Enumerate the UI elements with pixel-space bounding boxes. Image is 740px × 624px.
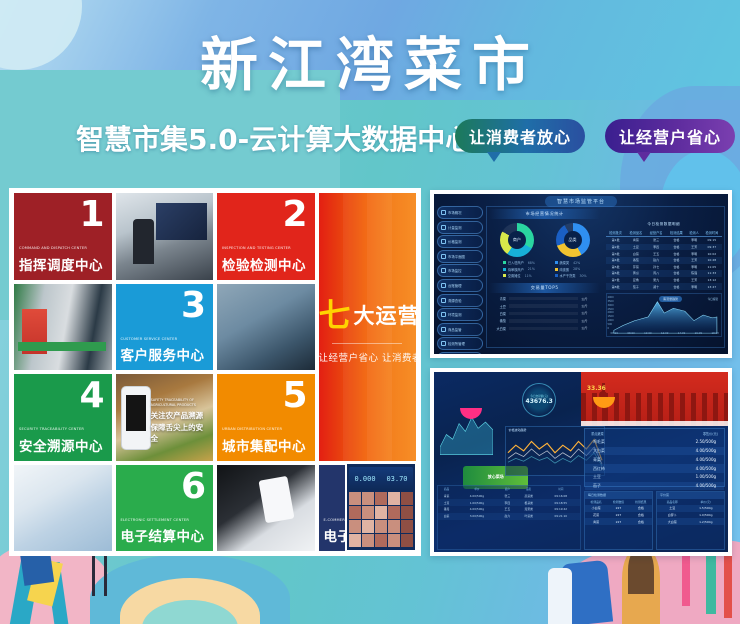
tile-photo-command-room (116, 193, 214, 280)
legend-item-1: 待审核商户21% (503, 267, 535, 272)
dashboard-top-body: 市场经营情况统计 商户 品类 已入驻商户68%待审核商户21%空置摊位11% 蔬… (486, 206, 725, 348)
hero-headline: 七大运营中心 (319, 290, 417, 336)
table-row: 第1批青菜张三合格李明09:15 (606, 237, 723, 244)
page-header: 新江湾菜市 智慧市集5.0-云计算大数据中心 让消费者放心 让经营户省心 (0, 0, 740, 186)
badge-merchant: 让经营户省心 (605, 119, 735, 153)
tile-label-cn: 客户服务中心 (121, 344, 210, 364)
legend-swatch (555, 268, 558, 271)
table-cell: 11:05 (702, 264, 722, 271)
price-item-name: 西红柿 (593, 466, 605, 472)
table-cell: 第1批 (606, 237, 626, 244)
price-panel-header: 重点蔬菜 零售价(元) (585, 429, 724, 438)
sidebar-item-label: 市场平面图 (448, 254, 465, 259)
tile-photo-payment (217, 465, 315, 552)
table-cell: 合格 (630, 512, 652, 519)
price-item-value: 2.50/500g (696, 439, 716, 445)
donut-legend-left: 已入驻商户68%待审核商户21%空置摊位11% (503, 260, 535, 278)
sidebar-item-9[interactable]: 检测所管理 (437, 337, 483, 350)
price-row-5: 茄子4.00/500g (585, 482, 724, 491)
table-cell: 芹菜 (626, 264, 646, 271)
bar-row-1: 土豆公斤 (494, 304, 595, 309)
photo-caption-en: SAFETY TRACEABILITY OF AGRICULTURAL PROD… (151, 398, 210, 408)
sidebar-item-label: 环境监测 (448, 312, 462, 317)
table-cell: 李明 (687, 283, 702, 290)
tile-center-2[interactable]: 2 INSPECTION AND TESTING CENTER 检验检测中心 (217, 193, 315, 280)
bar-unit: 公斤 (581, 326, 595, 330)
table-row: 花菜227合格 (585, 512, 652, 519)
tile-smart-scale-screen[interactable]: 0.000 03.70 (345, 462, 417, 552)
detection-table: 检测批次检测品名经营户名检测结果检测人检测时间 第1批青菜张三合格李明09:15… (606, 228, 723, 290)
area-chart-x-axis: 06:0008:0010:0012:0014:0016:0018:00 (611, 332, 720, 335)
donut-panel-title: 市场经营情况统计 (489, 209, 600, 219)
legend-item-1: 肉禽蛋28% (555, 267, 587, 272)
mini-table-a-title: 每日检测数据 (585, 492, 652, 499)
bar-track (509, 304, 578, 307)
tile-label-en: ELECTRONIC SETTLEMENT CENTER (121, 518, 210, 523)
column-header: 经营户名 (646, 228, 666, 237)
table-cell: 10:28 (702, 257, 722, 264)
table-cell: 王五 (646, 250, 666, 257)
price-item-value: 4.00/500g (696, 457, 716, 463)
table-cell: 叶菜类 (516, 513, 542, 520)
tile-photo-network (14, 465, 112, 552)
tile-label: URBAN DISTRIBUTION CENTER 城市集配中心 (222, 427, 311, 454)
table-row: 土豆1.00/500g李四根茎类09:18:55 (438, 499, 580, 506)
bar-track (509, 319, 578, 322)
price-rows: 鸡毛菜2.50/500g大白菜4.00/500g青菜4.00/500g西红柿4.… (585, 438, 724, 491)
table-cell: 青菜 (585, 518, 607, 525)
sidebar-item-label: 市场监控 (448, 268, 462, 273)
price-row-3: 西红柿4.00/500g (585, 464, 724, 473)
hero-divider (332, 343, 402, 344)
menu-icon (441, 283, 446, 288)
kpi-caption: 今日交易额(元) (530, 394, 548, 398)
table-row: 青菜227合格 (585, 518, 652, 525)
sidebar-item-6[interactable]: 溯源查验 (437, 294, 483, 307)
scale-readout: 0.000 03.70 (349, 467, 413, 489)
tile-center-5[interactable]: 5 URBAN DISTRIBUTION CENTER 城市集配中心 (217, 374, 315, 461)
table-cell: 李明 (687, 250, 702, 257)
tile-label: CUSTOMER SERVICE CENTER 客户服务中心 (121, 337, 210, 364)
decor-green-stripe (706, 556, 716, 614)
tile-number: 4 (79, 378, 104, 414)
menu-icon (441, 254, 446, 259)
affordable-vegetable-table: 平价菜 商品名称单价(元)土豆1.5/500g白萝卜1.0/500g大白菜1.2… (656, 491, 725, 550)
table-cell: 1.0/500g (687, 512, 724, 519)
table-cell: 09:19:42 (542, 506, 580, 513)
bar-track (509, 297, 578, 300)
x-tick: 12:00 (661, 332, 668, 335)
legend-item-0: 已入驻商户68% (503, 260, 535, 265)
sidebar-item-label: 市场概况 (448, 210, 462, 215)
table-cell: 第3批 (606, 250, 626, 257)
legend-value: 11% (525, 274, 532, 278)
bar-label: 大白菜 (494, 326, 506, 331)
dashboard-top-screen: 智慧市场监管平台 市场概况计量监测价格监测市场平面图市场监控台账管理溯源查验环境… (434, 194, 728, 354)
decor-red-stripe (724, 556, 732, 618)
table-cell: 合格 (666, 250, 686, 257)
column-header: 检测人 (687, 228, 702, 237)
detection-table-title: 今日检测数据明细 (606, 221, 723, 228)
legend-value: 30% (579, 274, 586, 278)
key-vegetable-price-panel: 重点蔬菜 零售价(元) 鸡毛菜2.50/500g大白菜4.00/500g青菜4.… (584, 428, 725, 487)
table-cell: 王五 (499, 506, 516, 513)
decor-white-shape (548, 568, 572, 624)
donut-chart-merchants: 商户 (500, 223, 534, 257)
table-cell: 合格 (666, 277, 686, 284)
dashboard-left-column: 市场经营情况统计 商户 品类 已入驻商户68%待审核商户21%空置摊位11% 蔬… (489, 209, 600, 345)
table-row: 第5批芹菜孙七合格李明11:05 (606, 264, 723, 271)
menu-icon (441, 341, 446, 346)
price-row-1: 大白菜4.00/500g (585, 447, 724, 456)
sidebar-item-label: 价格监测 (448, 239, 462, 244)
price-item-name: 鸡毛菜 (593, 439, 605, 445)
bar-label: 番茄 (494, 318, 506, 323)
tile-label-cn: 城市集配中心 (222, 435, 311, 455)
bar-unit: 公斤 (581, 311, 595, 315)
table-row: 第2批土豆李四合格王芳09:37 (606, 244, 723, 251)
tile-label-en: COMMAND AND DISPATCH CENTER (19, 246, 108, 251)
price-item-value: 1.00/500g (696, 474, 716, 480)
price-row-2: 青菜4.00/500g (585, 455, 724, 464)
bar-chart-top5: 青菜公斤土豆公斤白菜公斤番茄公斤大白菜公斤 (489, 293, 600, 333)
legend-value: 68% (528, 261, 535, 265)
table-row: 第6批黄瓜周八合格陈强11:33 (606, 270, 723, 277)
table-cell: 茄果类 (516, 506, 542, 513)
table-cell: 合格 (666, 270, 686, 277)
bar-label: 白菜 (494, 311, 506, 316)
phone-mockup (121, 386, 150, 450)
table-cell: 土豆 (438, 499, 455, 506)
x-tick: 08:00 (627, 332, 634, 335)
tile-center-6[interactable]: 6 ELECTRONIC SETTLEMENT CENTER 电子结算中心 (116, 465, 214, 552)
bar-row-0: 青菜公斤 (494, 296, 595, 301)
tile-photo-traceability: SAFETY TRACEABILITY OF AGRICULTURAL PROD… (116, 374, 214, 461)
transaction-table: 商品单价商户品名时间青菜4.00/500g张三蔬菜类09:16:08土豆1.00… (438, 486, 580, 519)
table-cell: 09:16:08 (542, 492, 580, 499)
price-row-0: 鸡毛菜2.50/500g (585, 438, 724, 447)
photo-caption-line2: 保障舌尖上的安全 (151, 423, 204, 443)
sidebar-item-1[interactable]: 计量监测 (437, 221, 483, 234)
decor-pink-stripe (682, 554, 690, 606)
table-cell: 大白菜 (657, 518, 688, 525)
table-cell: 郑十 (646, 283, 666, 290)
legend-swatch (555, 274, 558, 277)
price-item-name: 茄子 (593, 483, 601, 489)
detection-table-header-row: 检测批次检测品名经营户名检测结果检测人检测时间 (606, 228, 723, 237)
dashboard-right-column: 今日检测数据明细 检测批次检测品名经营户名检测结果检测人检测时间 第1批青菜张三… (606, 221, 723, 343)
mini-table-a: 检测品名检测数值检测结果小白菜227合格花菜227合格青菜227合格 (585, 499, 652, 525)
sidebar-item-label: 计量监测 (448, 225, 462, 230)
column-header: 检测时间 (702, 228, 722, 237)
hero-tagline: 让经营户省心 让消费者放心 (319, 350, 417, 364)
legend-item-2: 空置摊位11% (503, 273, 535, 278)
bar-label: 土豆 (494, 304, 506, 309)
photo-caption-line1: 关注农产品溯源 (151, 411, 204, 420)
scale-weight-value: 0.000 (354, 475, 375, 483)
table-cell: 张三 (499, 492, 516, 499)
table-cell: 赵六 (499, 513, 516, 520)
table-cell: 番茄 (438, 506, 455, 513)
sidebar-item-3[interactable]: 市场平面图 (437, 250, 483, 263)
table-row: 第8批茄子郑十合格李明13:47 (606, 283, 723, 290)
table-cell: 227 (607, 505, 629, 512)
column-header: 检测结果 (666, 228, 686, 237)
menu-icon (441, 210, 446, 215)
price-header-value: 零售价(元) (703, 431, 718, 436)
price-item-value: 4.00/500g (696, 483, 716, 489)
table-cell: 茄子 (626, 283, 646, 290)
tile-center-1[interactable]: 1 COMMAND AND DISPATCH CENTER 指挥调度中心 (14, 193, 112, 280)
table-row: 白萝卜1.0/500g (657, 512, 724, 519)
legend-label: 待审核商户 (508, 267, 524, 272)
hero-seven-centers: 七大运营中心 让经营户省心 让消费者放心 (319, 193, 417, 461)
tile-center-3[interactable]: 3 CUSTOMER SERVICE CENTER 客户服务中心 (116, 284, 214, 371)
table-cell: 第2批 (606, 244, 626, 251)
table-cell: 1.00/500g (455, 499, 499, 506)
table-cell: 10:02 (702, 250, 722, 257)
tile-label-en: URBAN DISTRIBUTION CENTER (222, 427, 311, 432)
menu-icon (441, 312, 446, 317)
table-cell: 张三 (646, 237, 666, 244)
bar-unit: 公斤 (581, 297, 595, 301)
tile-label-cn: 电子结算中心 (121, 525, 210, 545)
table-cell: 227 (607, 512, 629, 519)
dashboard-sidebar[interactable]: 市场概况计量监测价格监测市场平面图市场监控台账管理溯源查验环境监测商品监管检测所… (437, 206, 483, 350)
column-header: 检测品名 (626, 228, 646, 237)
table-cell: 第7批 (606, 277, 626, 284)
sidebar-item-8[interactable]: 商品监管 (437, 323, 483, 336)
table-row: 大白菜1.2/500g (657, 518, 724, 525)
bar-unit: 公斤 (581, 304, 595, 308)
legend-label: 肉禽蛋 (560, 267, 570, 272)
table-cell: 蔬菜类 (516, 492, 542, 499)
tile-label-cn: 检验检测中心 (222, 254, 311, 274)
table-row: 番茄4.00/500g王五茄果类09:19:42 (438, 506, 580, 513)
table-cell: 13:47 (702, 283, 722, 290)
table-cell: 13:12 (702, 277, 722, 284)
legend-item-2: 水产干货类30% (555, 273, 587, 278)
scale-price-value: 03.70 (386, 475, 407, 483)
tile-number: 5 (282, 378, 307, 414)
dashboard-bottom-market[interactable]: 今日交易额(元) 43676.3 33.36 放心菜场 价格波动趋势 重点蔬菜 … (430, 368, 732, 556)
bar-row-3: 番茄公斤 (494, 318, 595, 323)
table-cell: 3.00/500g (455, 513, 499, 520)
table-cell: 4.00/500g (455, 492, 499, 499)
table-cell: 09:21:10 (542, 513, 580, 520)
tile-label-en: SECURITY TRACEABILITY CENTER (19, 427, 108, 432)
tile-label: ELECTRONIC SETTLEMENT CENTER 电子结算中心 (121, 518, 210, 545)
price-header-name: 重点蔬菜 (591, 431, 604, 436)
tile-photo-market-aisle (14, 284, 112, 371)
legend-swatch (503, 261, 506, 264)
tile-label: COMMAND AND DISPATCH CENTER 指挥调度中心 (19, 246, 108, 273)
table-cell: 李明 (687, 264, 702, 271)
tile-label-cn: 安全溯源中心 (19, 435, 108, 455)
dashboard-top-monitoring[interactable]: 智慧市场监管平台 市场概况计量监测价格监测市场平面图市场监控台账管理溯源查验环境… (430, 190, 732, 358)
table-cell: 第8批 (606, 283, 626, 290)
tile-label: SECURITY TRACEABILITY CENTER 安全溯源中心 (19, 427, 108, 454)
table-cell: 合格 (666, 237, 686, 244)
bar-row-2: 白菜公斤 (494, 311, 595, 316)
tile-label-en: INSPECTION AND TESTING CENTER (222, 246, 311, 251)
tile-label-en: CUSTOMER SERVICE CENTER (121, 337, 210, 342)
bar-row-4: 大白菜公斤 (494, 326, 595, 331)
table-cell: 王芳 (687, 244, 702, 251)
legend-label: 水产干货类 (560, 273, 576, 278)
table-cell: 豆角 (626, 277, 646, 284)
legend-label: 已入驻商户 (508, 260, 524, 265)
bar-track (509, 327, 578, 330)
sidebar-item-0[interactable]: 市场概况 (437, 206, 483, 219)
sidebar-item-2[interactable]: 价格监测 (437, 235, 483, 248)
hero-label: 大运营中心 (354, 304, 416, 328)
table-cell: 番茄 (626, 257, 646, 264)
table-cell: 李四 (646, 244, 666, 251)
x-tick: 16:00 (695, 332, 702, 335)
table-row: 小白菜227合格 (585, 505, 652, 512)
sidebar-item-10[interactable]: 经营户管理 (437, 352, 483, 354)
kpi-secondary-value: 33.36 (587, 385, 606, 392)
detection-table-body: 第1批青菜张三合格李明09:15第2批土豆李四合格王芳09:37第3批白菜王五合… (606, 237, 723, 290)
donut-legends: 已入驻商户68%待审核商户21%空置摊位11% 蔬菜类42%肉禽蛋28%水产干货… (489, 259, 600, 281)
price-item-name: 大白菜 (593, 448, 605, 454)
mini-table-b: 商品名称单价(元)土豆1.5/500g白萝卜1.0/500g大白菜1.2/500… (657, 499, 724, 525)
table-cell: 李明 (687, 237, 702, 244)
table-cell: 11:33 (702, 270, 722, 277)
tile-number: 1 (79, 197, 104, 233)
table-cell: 周八 (646, 270, 666, 277)
table-cell: 第5批 (606, 264, 626, 271)
column-header: 检测批次 (606, 228, 626, 237)
table-cell: 1.5/500g (687, 505, 724, 512)
sidebar-item-label: 检测所管理 (448, 341, 465, 346)
x-tick: 10:00 (644, 332, 651, 335)
legend-label: 空置摊位 (508, 273, 521, 278)
table-cell: 白菜 (626, 250, 646, 257)
menu-icon (441, 298, 446, 303)
tile-number: 3 (181, 288, 206, 324)
tile-photo-mobile-iot (217, 284, 315, 371)
legend-value: 28% (573, 267, 580, 271)
page-title: 新江湾菜市 (0, 18, 740, 102)
menu-icon (441, 239, 446, 244)
area-chart-legend: 今日客流 (708, 297, 718, 301)
tile-label-cn: 指挥调度中心 (19, 254, 108, 274)
legend-value: 42% (573, 261, 580, 265)
legend-label: 蔬菜类 (560, 260, 570, 265)
x-tick: 18:00 (711, 332, 718, 335)
table-cell: 王芳 (687, 277, 702, 284)
mini-table-b-title: 平价菜 (657, 492, 724, 499)
price-item-name: 青菜 (593, 457, 601, 463)
table-cell: 合格 (666, 244, 686, 251)
dashboard-bottom-screen: 今日交易额(元) 43676.3 33.36 放心菜场 价格波动趋势 重点蔬菜 … (434, 372, 728, 552)
table-row: 青菜4.00/500g张三蔬菜类09:16:08 (438, 492, 580, 499)
table-cell: 227 (607, 518, 629, 525)
table-cell: 09:18:55 (542, 499, 580, 506)
table-cell: 青菜 (626, 237, 646, 244)
sidebar-item-label: 溯源查验 (448, 298, 462, 303)
table-cell: 李四 (499, 499, 516, 506)
decor-stick-1 (92, 550, 95, 596)
traffic-area-chart: 40003500300025002000150010005000 客流量趋势 今… (606, 293, 723, 337)
sidebar-item-5[interactable]: 台账管理 (437, 279, 483, 292)
donut-charts: 商户 品类 (489, 219, 600, 259)
table-cell: 赵六 (646, 257, 666, 264)
price-item-value: 4.00/500g (696, 466, 716, 472)
table-cell: 白菜 (438, 513, 455, 520)
table-cell: 09:37 (702, 244, 722, 251)
x-tick: 14:00 (678, 332, 685, 335)
table-cell: 根茎类 (516, 499, 542, 506)
decor-stick-2 (104, 550, 107, 596)
hero-number: 七 (319, 296, 352, 334)
bar-unit: 公斤 (581, 319, 595, 323)
table-cell: 合格 (666, 257, 686, 264)
bar-label: 青菜 (494, 296, 506, 301)
scale-product-grid (349, 492, 413, 546)
table-cell: 黄瓜 (626, 270, 646, 277)
daily-detection-table: 每日检测数据 检测品名检测数值检测结果小白菜227合格花菜227合格青菜227合… (584, 491, 653, 550)
table-cell: 土豆 (657, 505, 688, 512)
page-subtitle: 智慧市集5.0-云计算大数据中心 (76, 118, 473, 158)
table-cell: 1.2/500g (687, 518, 724, 525)
sidebar-item-4[interactable]: 市场监控 (437, 264, 483, 277)
table-cell: 孙七 (646, 264, 666, 271)
table-cell: 合格 (630, 505, 652, 512)
kpi-total-transaction: 今日交易额(元) 43676.3 (522, 383, 556, 417)
table-cell: 青菜 (438, 492, 455, 499)
table-cell: 合格 (666, 283, 686, 290)
table-cell: 花菜 (585, 512, 607, 519)
price-item-value: 4.00/500g (696, 448, 716, 454)
donut-legend-right: 蔬菜类42%肉禽蛋28%水产干货类30% (555, 260, 587, 278)
table-cell: 小白菜 (585, 505, 607, 512)
legend-value: 21% (528, 267, 535, 271)
legend-swatch (503, 268, 506, 271)
tile-number: 2 (282, 197, 307, 233)
price-row-4: 土豆1.00/500g (585, 473, 724, 482)
photo-caption: SAFETY TRACEABILITY OF AGRICULTURAL PROD… (151, 398, 210, 444)
table-cell: 王芳 (687, 257, 702, 264)
menu-icon (441, 268, 446, 273)
table-cell: 合格 (630, 518, 652, 525)
table-cell: 合格 (666, 264, 686, 271)
table-cell: 4.00/500g (455, 506, 499, 513)
menu-icon (441, 327, 446, 332)
sidebar-item-7[interactable]: 环境监测 (437, 308, 483, 321)
price-item-name: 土豆 (593, 474, 601, 480)
table-cell: 第6批 (606, 270, 626, 277)
donut-center-label: 品类 (556, 223, 590, 257)
x-tick: 06:00 (611, 332, 618, 335)
kpi-value: 43676.3 (526, 398, 553, 405)
sidebar-item-label: 商品监管 (448, 327, 462, 332)
table-cell: 09:15 (702, 237, 722, 244)
legend-swatch (555, 261, 558, 264)
legend-item-0: 蔬菜类42% (555, 260, 587, 265)
bar-track (509, 312, 578, 315)
table-row: 第3批白菜王五合格李明10:02 (606, 250, 723, 257)
tile-center-4[interactable]: 4 SECURITY TRACEABILITY CENTER 安全溯源中心 (14, 374, 112, 461)
table-cell: 白萝卜 (657, 512, 688, 519)
area-chart-tag: 客流量趋势 (659, 296, 682, 302)
table-cell: 第4批 (606, 257, 626, 264)
bar-panel-title: 交易量TOP5 (489, 283, 600, 293)
table-cell: 土豆 (626, 244, 646, 251)
transaction-log-table: 商品单价商户品名时间青菜4.00/500g张三蔬菜类09:16:08土豆1.00… (437, 485, 581, 550)
